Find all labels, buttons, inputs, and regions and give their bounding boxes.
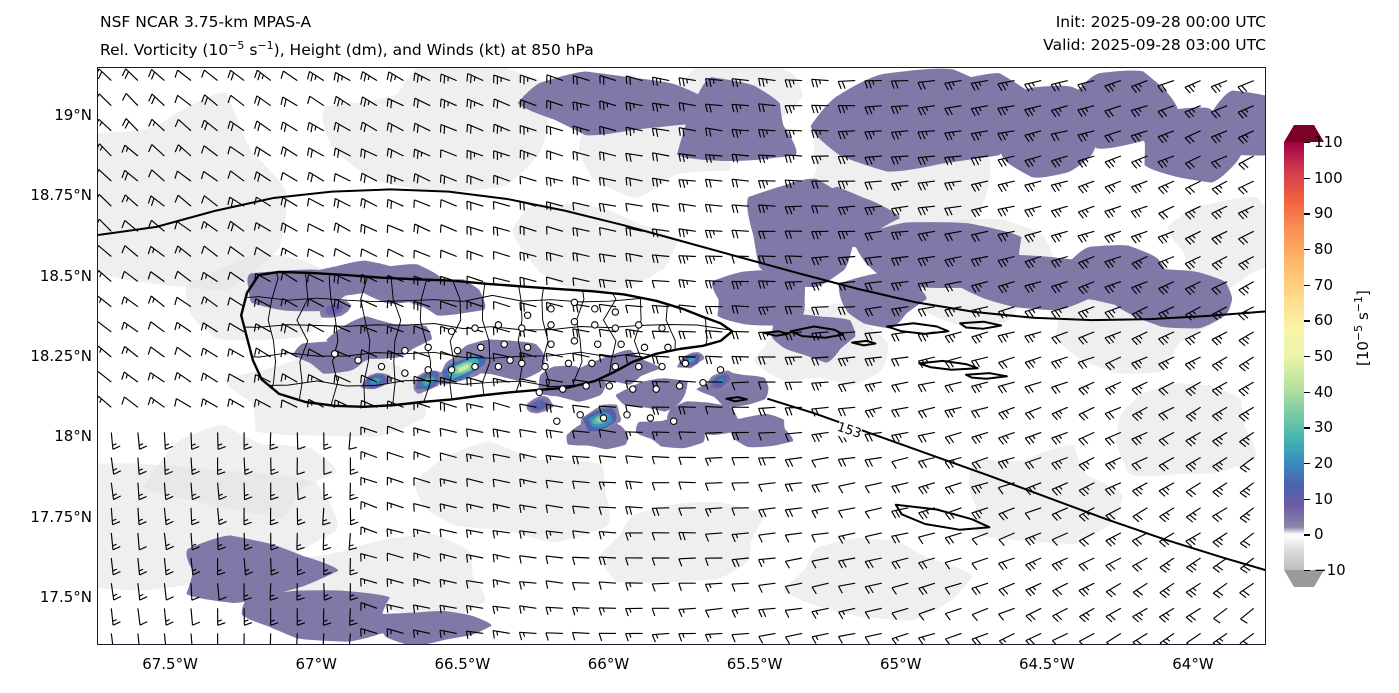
barb-shaft — [1132, 483, 1147, 491]
barb-shaft — [1185, 181, 1200, 189]
station-circle-icon — [507, 357, 513, 363]
barb-shaft — [493, 202, 509, 207]
barb-full — [679, 609, 682, 617]
barb-shaft — [652, 456, 669, 457]
barb-full — [789, 155, 792, 163]
station-circle-icon — [647, 415, 653, 421]
vorticity-patch-negative — [969, 445, 1123, 544]
barb-full — [656, 356, 659, 364]
wind-barb-icon — [865, 483, 883, 494]
wind-barb-icon — [625, 456, 643, 465]
barb-full — [972, 386, 976, 394]
barb-shaft — [1238, 81, 1254, 87]
barb-full — [572, 607, 575, 615]
station-circle-icon — [659, 325, 665, 331]
wind-barb-icon — [706, 608, 724, 618]
wind-barb-icon — [892, 407, 910, 418]
wind-barb-icon — [1105, 206, 1124, 218]
barb-shaft — [626, 203, 643, 206]
field-title-exp2: −1 — [257, 39, 273, 52]
barb-full — [682, 280, 685, 288]
barb-half — [926, 485, 929, 489]
barb-half — [1059, 410, 1062, 414]
wind-barb-icon — [146, 296, 164, 313]
barb-shaft — [785, 633, 802, 637]
wind-barb-icon — [759, 533, 777, 543]
wind-barb-icon — [626, 608, 643, 616]
barb-half — [1246, 487, 1250, 491]
station-circle-icon — [548, 341, 554, 347]
barb-full — [599, 532, 602, 540]
barb-full — [438, 402, 443, 410]
barb-shaft — [785, 130, 802, 131]
barb-shaft — [151, 347, 165, 357]
wind-barb-icon — [731, 230, 748, 239]
wind-barb-icon — [972, 382, 990, 394]
valid-time: Valid: 2025-09-28 03:00 UTC — [1043, 34, 1266, 57]
wind-barb-icon — [465, 429, 483, 440]
wind-barb-icon — [759, 608, 777, 617]
barb-full — [1055, 234, 1060, 242]
wind-barb-icon — [1213, 583, 1231, 599]
barb-full — [945, 638, 950, 644]
barb-full — [999, 437, 1004, 445]
barb-full — [324, 447, 332, 450]
barb-half — [244, 620, 248, 621]
wind-barb-icon — [972, 608, 991, 621]
wind-barb-icon — [358, 501, 377, 514]
barb-full — [545, 607, 548, 615]
wind-barb-icon — [1105, 231, 1124, 244]
barb-shaft — [999, 633, 1014, 640]
barb-shaft — [812, 307, 829, 308]
barb-shaft — [919, 633, 935, 638]
wind-barb-icon — [705, 583, 722, 592]
barb-full — [1025, 386, 1030, 394]
barb-full — [785, 610, 789, 618]
barb-full — [759, 610, 762, 618]
wind-barb-icon — [945, 332, 963, 344]
barb-shaft — [493, 278, 510, 282]
barb-half — [1033, 435, 1036, 439]
barb-full — [919, 487, 924, 495]
barb-shaft — [1213, 533, 1227, 542]
wind-barb-icon — [759, 508, 777, 518]
wind-barb-icon — [519, 632, 536, 641]
wind-barb-icon — [545, 177, 563, 188]
barb-shaft — [626, 507, 643, 508]
wind-barb-icon — [519, 582, 537, 591]
barb-half — [1033, 561, 1036, 565]
barb-full — [1029, 360, 1034, 368]
wind-barb-icon — [732, 331, 749, 339]
barb-full — [971, 411, 975, 419]
wind-barb-icon — [758, 181, 775, 189]
barb-full — [811, 79, 814, 87]
barb-full — [895, 358, 899, 366]
wind-barb-icon — [98, 69, 111, 86]
barb-full — [518, 176, 523, 184]
wind-barb-icon — [519, 556, 537, 566]
barb-shaft — [335, 174, 350, 182]
barb-shaft — [972, 633, 988, 639]
barb-full — [545, 430, 549, 438]
map-plot-area[interactable]: 153 — [97, 67, 1266, 645]
wind-barb-icon — [918, 407, 936, 418]
wind-barb-icon — [652, 633, 670, 642]
wind-barb-icon — [1240, 483, 1258, 499]
barb-shaft — [785, 282, 802, 283]
barb-half — [1166, 184, 1169, 188]
wind-barb-icon — [252, 121, 270, 137]
station-circle-icon — [542, 363, 548, 369]
barb-half — [1032, 334, 1034, 338]
barb-full — [652, 584, 655, 592]
barb-shaft — [388, 199, 404, 206]
barb-shaft — [164, 608, 166, 625]
barb-half — [1006, 334, 1008, 338]
barb-half — [1006, 208, 1008, 212]
wind-barb-icon — [111, 432, 120, 450]
barb-shaft — [1133, 633, 1148, 642]
station-circle-icon — [478, 344, 484, 350]
barb-shaft — [520, 277, 536, 281]
wind-barb-icon — [1186, 483, 1204, 498]
barb-shaft — [1052, 407, 1068, 414]
barb-full — [655, 204, 659, 212]
wind-barb-icon — [1213, 633, 1231, 644]
barb-full — [759, 559, 762, 567]
barb-shaft — [1213, 608, 1227, 618]
barb-full — [842, 408, 845, 416]
wind-barb-icon — [785, 458, 803, 468]
wind-barb-icon — [111, 607, 120, 625]
wind-barb-icon — [971, 407, 989, 418]
barb-shaft — [270, 633, 271, 644]
barb-shaft — [759, 256, 776, 257]
barb-shaft — [1107, 633, 1121, 642]
barb-full — [785, 636, 789, 644]
barb-shaft — [705, 633, 722, 634]
wind-barb-icon — [172, 399, 191, 414]
barb-half — [1246, 361, 1249, 365]
barb-shaft — [945, 558, 961, 563]
wind-barb-icon — [411, 250, 430, 263]
barb-half — [351, 519, 355, 520]
barb-shaft — [892, 407, 909, 410]
barb-half — [1085, 233, 1087, 237]
wind-barb-icon — [147, 69, 165, 86]
barb-full — [571, 353, 575, 361]
barb-shaft — [1241, 608, 1254, 619]
barb-shaft — [1106, 608, 1121, 616]
barb-full — [139, 597, 147, 600]
barb-shaft — [732, 382, 749, 383]
barb-half — [324, 444, 328, 445]
x-tick-label: 66°W — [588, 655, 629, 673]
barb-full — [651, 204, 655, 212]
barb-full — [571, 177, 576, 185]
wind-barb-icon — [385, 199, 404, 213]
barb-shaft — [1106, 533, 1121, 541]
barb-full — [1055, 184, 1059, 192]
barb-full — [892, 461, 896, 469]
wind-barb-icon — [252, 96, 270, 112]
barb-shaft — [546, 607, 563, 608]
wind-barb-icon — [332, 198, 351, 212]
barb-half — [1059, 208, 1061, 212]
wind-barb-icon — [759, 583, 777, 593]
colorbar[interactable]: 1101009080706050403020100−10 — [1284, 142, 1304, 570]
barb-full — [545, 177, 549, 185]
barb-shaft — [1239, 382, 1254, 390]
wind-barb-icon — [679, 608, 696, 617]
barb-full — [945, 461, 950, 469]
barb-shaft — [759, 558, 776, 560]
barb-shaft — [865, 458, 882, 460]
barb-full — [519, 582, 522, 590]
barb-full — [812, 535, 816, 543]
barb-full — [838, 636, 842, 644]
barb-full — [491, 252, 496, 260]
wind-barb-icon — [121, 93, 138, 111]
wind-barb-icon — [218, 608, 226, 625]
barb-shaft — [1053, 583, 1068, 591]
barb-half — [350, 494, 354, 495]
wind-barb-icon — [679, 633, 696, 641]
barb-full — [731, 230, 734, 238]
barb-full — [545, 556, 548, 564]
barb-full — [785, 510, 789, 518]
barb-shaft — [387, 477, 403, 482]
wind-barb-icon — [1106, 533, 1125, 548]
barb-half — [1166, 486, 1169, 490]
barb-full — [492, 429, 496, 437]
barb-full — [842, 384, 846, 392]
colorbar-tick — [1304, 499, 1310, 500]
barb-full — [438, 428, 442, 436]
barb-full — [1002, 385, 1007, 393]
barb-full — [945, 537, 950, 545]
station-circle-icon — [472, 363, 478, 369]
barb-shaft — [1185, 357, 1200, 364]
barb-shaft — [812, 483, 829, 486]
field-title: Rel. Vorticity (10−5 s−1), Height (dm), … — [100, 34, 594, 62]
barb-half — [1246, 386, 1249, 390]
wind-barb-icon — [839, 483, 857, 494]
barb-full — [922, 434, 926, 442]
barb-full — [999, 539, 1004, 547]
barb-full — [518, 606, 522, 614]
barb-shaft — [945, 508, 961, 514]
barb-shaft — [1240, 508, 1254, 518]
barb-full — [192, 622, 200, 625]
barb-half — [165, 444, 169, 446]
barb-full — [385, 529, 389, 537]
barb-full — [548, 127, 553, 135]
barb-shaft — [838, 81, 855, 82]
barb-half — [1192, 360, 1195, 364]
barb-full — [895, 535, 899, 543]
barb-full — [1002, 334, 1006, 342]
barb-full — [1055, 209, 1060, 217]
wind-barb-icon — [705, 331, 723, 340]
barb-full — [869, 459, 873, 467]
wind-barb-icon — [999, 633, 1018, 644]
wind-barb-icon — [891, 332, 909, 342]
station-circle-icon — [589, 360, 595, 366]
wind-barb-icon — [332, 248, 351, 263]
barb-full — [491, 403, 496, 411]
wind-barb-icon — [759, 558, 777, 567]
barb-half — [1219, 638, 1222, 642]
barb-full — [815, 80, 818, 88]
colorbar-tick — [1304, 427, 1310, 428]
barb-full — [682, 180, 685, 188]
barb-full — [736, 332, 739, 340]
barb-full — [945, 613, 950, 621]
barb-shaft — [1052, 633, 1067, 640]
barb-shaft — [520, 556, 537, 558]
barb-shaft — [971, 357, 988, 361]
wind-barb-icon — [705, 633, 722, 642]
barb-full — [1131, 236, 1136, 244]
island-coastline — [887, 323, 948, 334]
barb-full — [896, 485, 900, 493]
station-circle-icon — [548, 322, 554, 328]
wind-barb-icon — [358, 527, 377, 540]
barb-full — [652, 456, 655, 464]
barb-full — [869, 410, 873, 418]
wind-barb-icon — [1212, 357, 1231, 372]
barb-shaft — [1079, 458, 1094, 466]
barb-half — [816, 636, 818, 640]
wind-barb-icon — [679, 457, 696, 465]
barb-shaft — [838, 407, 855, 409]
barb-shaft — [706, 608, 723, 610]
barb-full — [1025, 362, 1030, 370]
barb-shaft — [310, 96, 324, 106]
barb-half — [1086, 587, 1089, 591]
wind-barb-icon — [945, 533, 963, 545]
barb-full — [166, 597, 174, 600]
barb-full — [865, 486, 869, 494]
wind-barb-icon — [491, 327, 509, 339]
wind-barb-icon — [1240, 583, 1258, 599]
wind-barb-icon — [164, 608, 173, 626]
barb-half — [953, 409, 955, 413]
wind-barb-icon — [785, 633, 803, 644]
wind-barb-icon — [812, 382, 829, 391]
barb-full — [1025, 336, 1029, 344]
barb-full — [599, 582, 602, 590]
barb-half — [1086, 461, 1089, 465]
barb-shaft — [1213, 633, 1227, 643]
wind-barb-icon — [465, 201, 483, 213]
wind-barb-icon — [545, 607, 562, 616]
barb-full — [731, 205, 734, 213]
wind-barb-icon — [385, 72, 403, 87]
station-circle-icon — [592, 322, 598, 328]
barb-shaft — [705, 356, 722, 357]
barb-half — [218, 620, 222, 621]
barb-shaft — [218, 533, 219, 550]
wind-barb-icon — [385, 477, 404, 490]
wind-barb-icon — [1025, 432, 1044, 445]
barb-shaft — [1078, 181, 1094, 187]
barb-full — [468, 202, 473, 210]
barb-full — [652, 305, 655, 313]
barb-full — [679, 482, 682, 490]
wind-barb-icon — [199, 348, 217, 363]
barb-shaft — [414, 529, 431, 533]
barb-half — [709, 458, 711, 462]
wind-barb-icon — [678, 280, 696, 289]
barb-full — [1051, 235, 1056, 243]
wind-barb-icon — [1025, 357, 1044, 370]
barb-full — [892, 410, 896, 418]
barb-half — [793, 130, 795, 134]
barb-full — [1055, 360, 1060, 368]
barb-full — [1002, 436, 1007, 444]
station-circle-icon — [425, 367, 431, 373]
wind-barb-icon — [438, 200, 457, 214]
wind-barb-icon — [226, 399, 245, 414]
barb-full — [919, 512, 924, 520]
barb-shaft — [467, 251, 483, 257]
barb-full — [949, 360, 954, 368]
barb-shaft — [1185, 81, 1201, 88]
barb-half — [630, 608, 631, 612]
wind-barb-icon — [918, 432, 936, 443]
barb-half — [766, 181, 768, 185]
wind-barb-icon — [1159, 608, 1178, 623]
barb-shaft — [440, 402, 456, 407]
wind-barb-icon — [412, 428, 430, 440]
barb-shaft — [283, 248, 298, 257]
wind-barb-icon — [173, 322, 191, 338]
barb-shaft — [191, 633, 192, 644]
barb-shaft — [138, 432, 140, 449]
station-circle-icon — [577, 412, 583, 418]
barb-full — [652, 608, 655, 616]
barb-full — [789, 509, 793, 517]
barb-full — [709, 331, 712, 339]
barb-shaft — [732, 230, 749, 231]
barb-shaft — [467, 429, 484, 433]
barb-half — [1112, 234, 1115, 238]
barb-shaft — [785, 508, 802, 510]
barb-full — [918, 461, 922, 469]
barb-half — [1139, 184, 1142, 188]
barb-shaft — [1105, 458, 1120, 465]
barb-shaft — [812, 458, 829, 461]
barb-shaft — [785, 80, 802, 81]
wind-barb-icon — [305, 198, 324, 213]
barb-full — [918, 385, 922, 393]
station-circle-icon — [501, 341, 507, 347]
y-tick-label: 18.25°N — [30, 347, 92, 365]
barb-shaft — [732, 583, 749, 584]
barb-shaft — [547, 151, 563, 156]
colorbar-tick-label: 40 — [1314, 383, 1333, 401]
barb-shaft — [466, 530, 483, 533]
init-time: Init: 2025-09-28 00:00 UTC — [1056, 11, 1266, 34]
barb-full — [465, 201, 470, 209]
barb-full — [1105, 211, 1110, 219]
barb-full — [599, 633, 602, 641]
barb-full — [945, 487, 950, 495]
